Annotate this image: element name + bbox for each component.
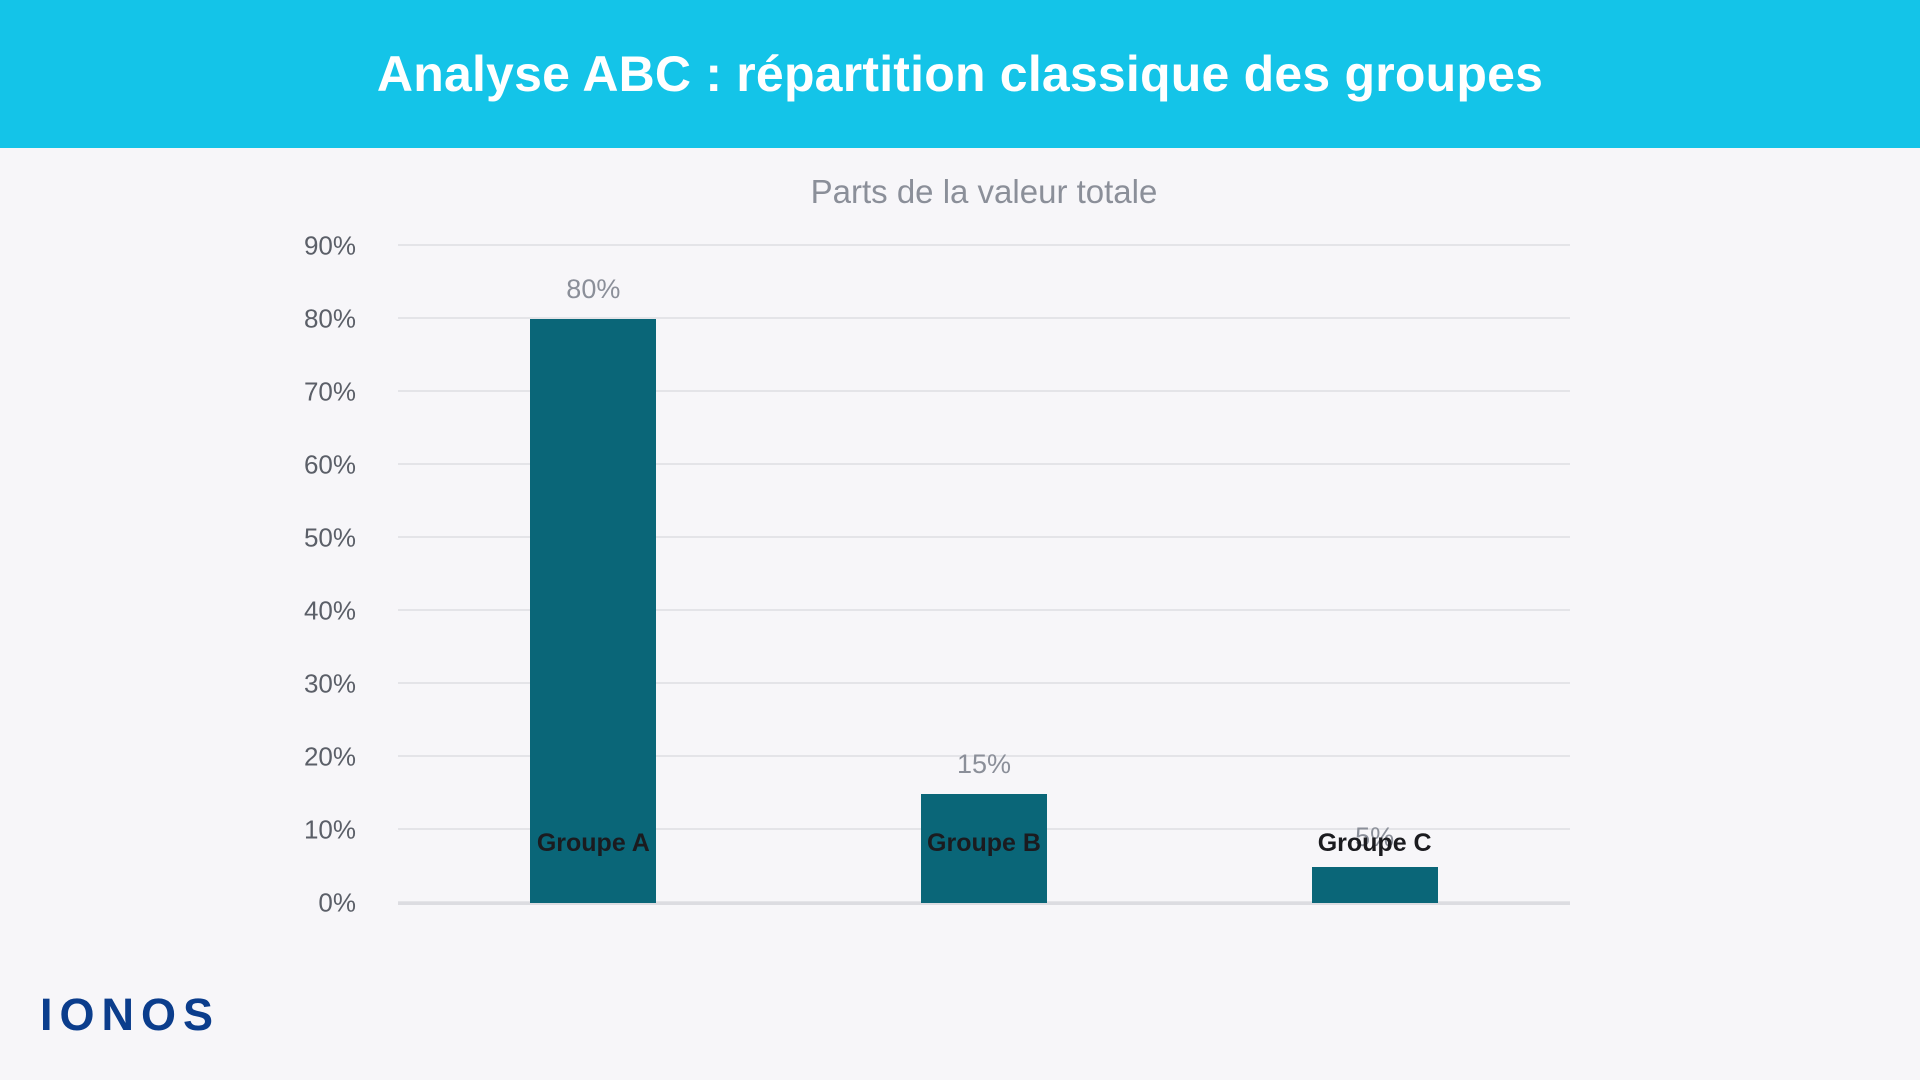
bar-value-label: 15% xyxy=(957,749,1011,780)
y-axis-tick-label: 90% xyxy=(0,231,378,262)
bar-group: 15% xyxy=(789,246,1180,903)
bar-group: 5% xyxy=(1179,246,1570,903)
y-axis-tick-label: 80% xyxy=(0,304,378,335)
bar[interactable] xyxy=(1312,867,1438,904)
chart-container: Parts de la valeur totale 0%10%20%30%40%… xyxy=(0,148,1920,1080)
plot-area: 80%15%5% xyxy=(398,246,1570,903)
bar-group: 80% xyxy=(398,246,789,903)
category-label: Groupe A xyxy=(398,829,789,858)
page-title: Analyse ABC : répartition classique des … xyxy=(377,47,1543,102)
bar-value-label: 80% xyxy=(566,274,620,305)
y-axis-tick-label: 40% xyxy=(0,596,378,627)
y-axis-tick-label: 0% xyxy=(0,888,378,919)
y-axis-tick-label: 20% xyxy=(0,742,378,773)
category-label: Groupe C xyxy=(1179,829,1570,858)
category-label: Groupe B xyxy=(789,829,1180,858)
y-axis-tick-label: 70% xyxy=(0,377,378,408)
header-banner: Analyse ABC : répartition classique des … xyxy=(0,0,1920,148)
chart-subtitle: Parts de la valeur totale xyxy=(398,173,1570,211)
bar[interactable] xyxy=(530,319,656,903)
y-axis-tick-label: 10% xyxy=(0,815,378,846)
ionos-logo: IONOS xyxy=(40,992,220,1037)
y-axis-tick-label: 50% xyxy=(0,523,378,554)
y-axis-tick-label: 30% xyxy=(0,669,378,700)
y-axis-tick-label: 60% xyxy=(0,450,378,481)
